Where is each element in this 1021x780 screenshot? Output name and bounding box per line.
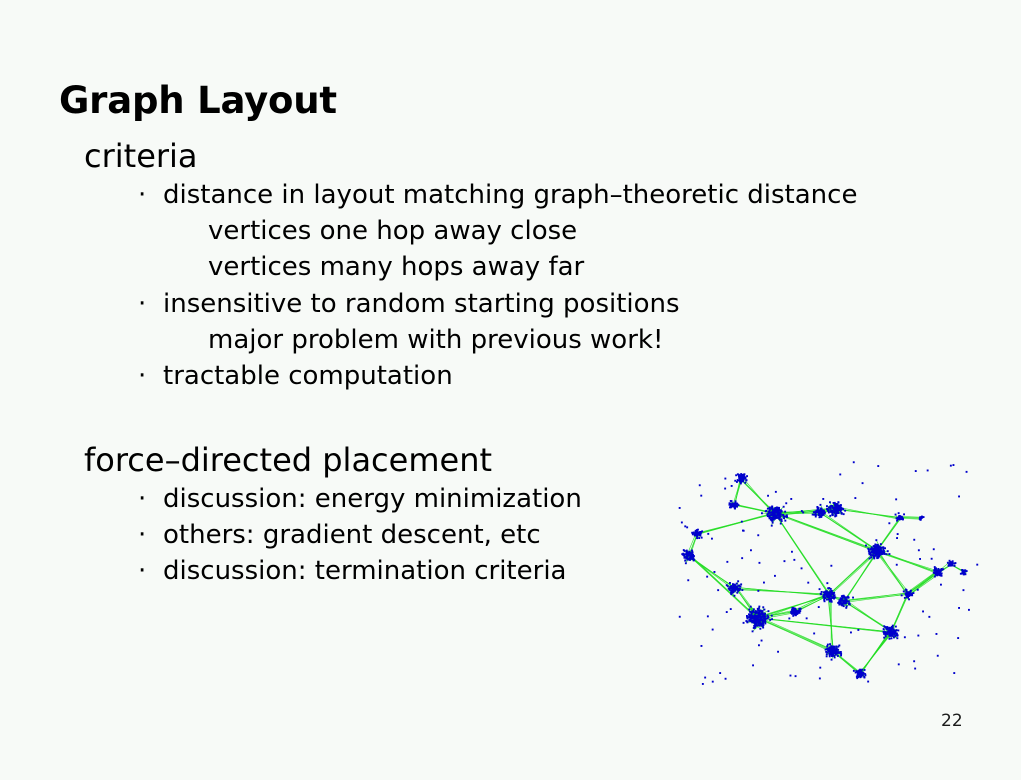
bullet-marker-icon: · bbox=[138, 481, 146, 517]
sub-item: major problem with previous work! bbox=[84, 322, 857, 358]
page-title: Graph Layout bbox=[59, 82, 337, 121]
bullet-text: others: gradient descent, etc bbox=[163, 520, 541, 550]
bullet-text: discussion: energy minimization bbox=[163, 484, 582, 514]
bullet-marker-icon: · bbox=[138, 553, 146, 589]
bullet-text: insensitive to random starting positions bbox=[163, 289, 680, 319]
bullet-marker-icon: · bbox=[138, 517, 146, 553]
bullet-item: · discussion: termination criteria bbox=[84, 553, 582, 589]
bullet-item: · insensitive to random starting positio… bbox=[84, 286, 857, 322]
sub-item: vertices many hops away far bbox=[84, 249, 857, 285]
bullet-marker-icon: · bbox=[138, 358, 146, 394]
bullet-marker-icon: · bbox=[138, 177, 146, 213]
bullet-marker-icon: · bbox=[138, 286, 146, 322]
bullet-item: · distance in layout matching graph–theo… bbox=[84, 177, 857, 213]
bullet-list: · discussion: energy minimization · othe… bbox=[84, 481, 582, 590]
graph-visualization bbox=[668, 452, 988, 694]
section-heading: force–directed placement bbox=[84, 440, 582, 481]
section-heading: criteria bbox=[84, 136, 857, 177]
page-number: 22 bbox=[941, 713, 963, 730]
bullet-item: · discussion: energy minimization bbox=[84, 481, 582, 517]
sub-item: vertices one hop away close bbox=[84, 213, 857, 249]
section-force-directed-placement: force–directed placement · discussion: e… bbox=[84, 440, 582, 590]
slide-canvas: Graph Layout criteria · distance in layo… bbox=[0, 0, 1021, 780]
bullet-text: distance in layout matching graph–theore… bbox=[163, 180, 857, 210]
bullet-text: tractable computation bbox=[163, 361, 453, 391]
force-directed-graph-figure bbox=[668, 452, 988, 694]
section-criteria: criteria · distance in layout matching g… bbox=[84, 136, 857, 395]
bullet-list: · distance in layout matching graph–theo… bbox=[84, 177, 857, 395]
bullet-item: · others: gradient descent, etc bbox=[84, 517, 582, 553]
bullet-item: · tractable computation bbox=[84, 358, 857, 394]
bullet-text: discussion: termination criteria bbox=[163, 556, 566, 586]
